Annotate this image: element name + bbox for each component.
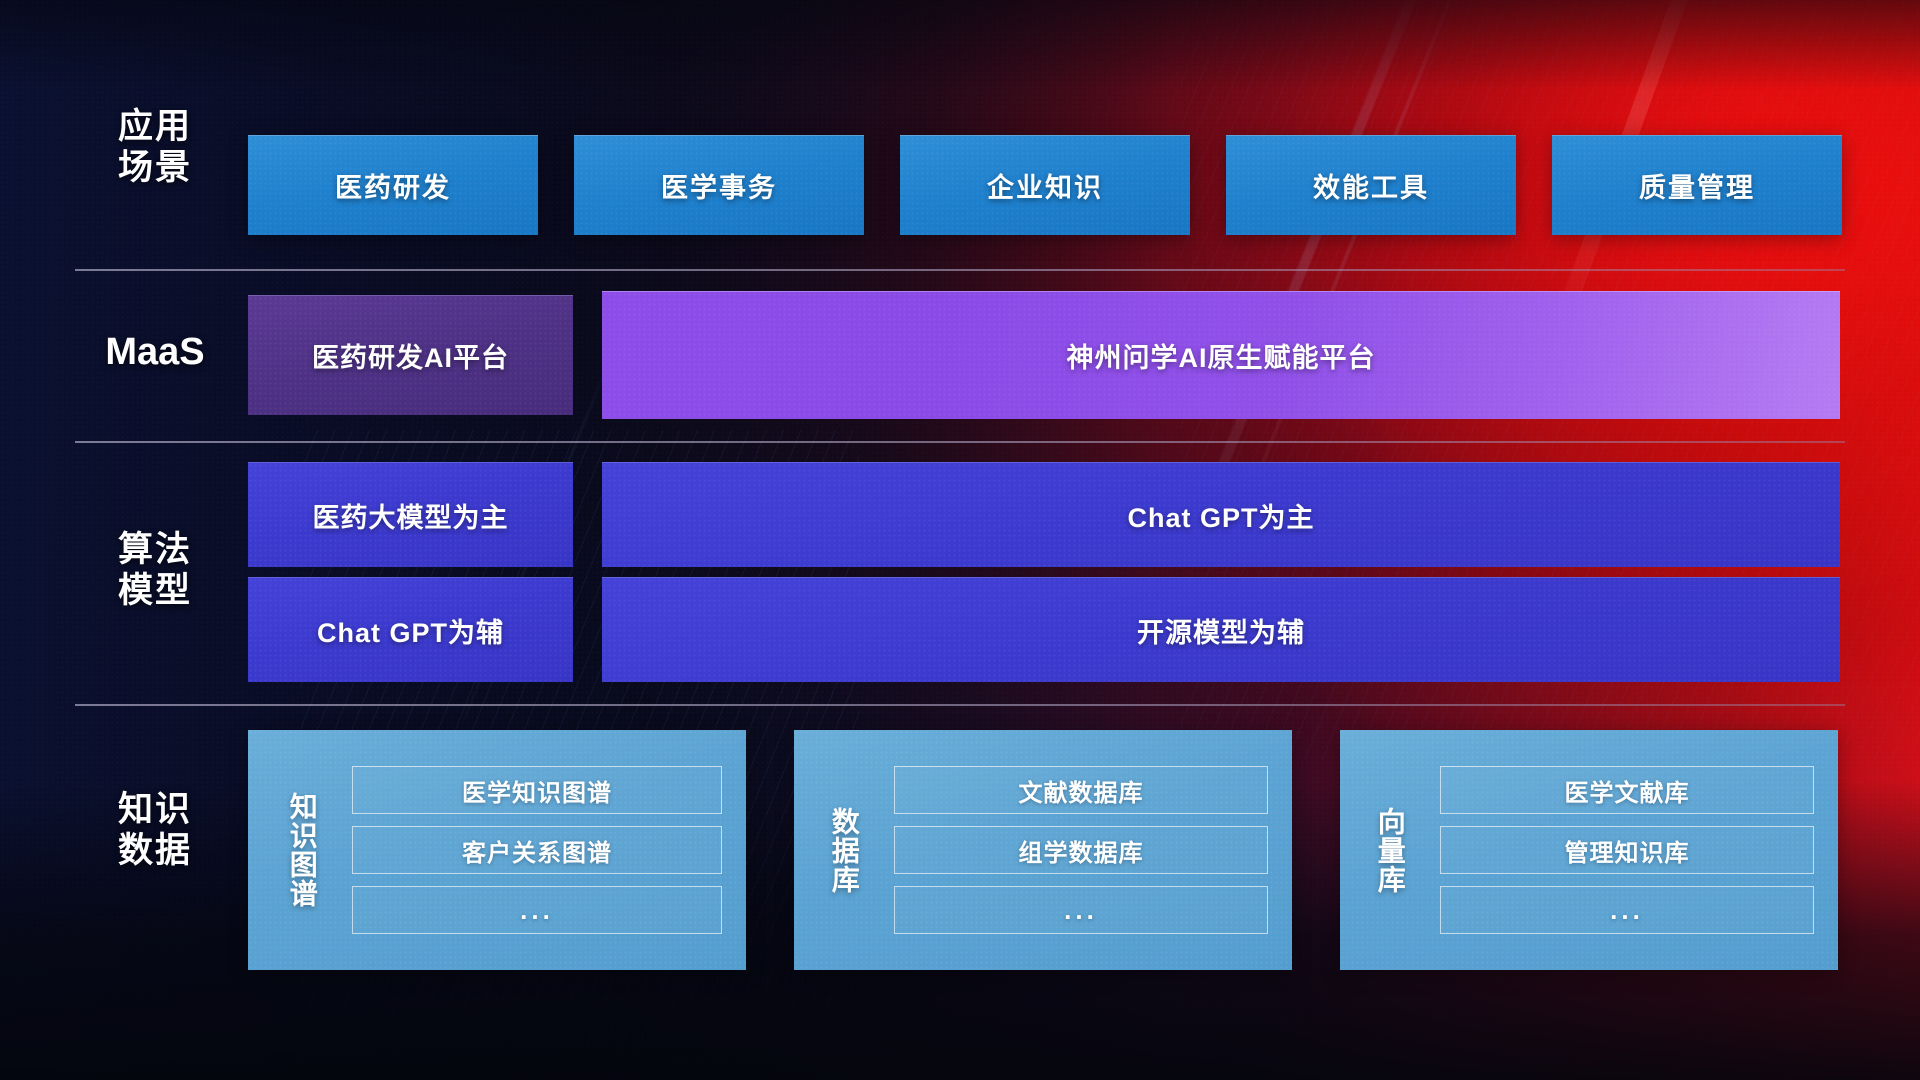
- app-box-label: 医学事务: [661, 166, 777, 205]
- knowledge-item-more[interactable]: ...: [352, 886, 722, 934]
- knowledge-group-title: 知识图谱: [266, 730, 338, 970]
- algo-box-label: Chat GPT为辅: [317, 611, 504, 650]
- row-label-line-1: 算法: [75, 530, 235, 571]
- knowledge-item-customer-relation-graph[interactable]: 客户关系图谱: [352, 826, 722, 874]
- algo-box-label: 开源模型为辅: [1137, 611, 1305, 650]
- knowledge-item-more[interactable]: ...: [1440, 886, 1814, 934]
- row-label-line-2: 场景: [75, 148, 235, 189]
- algo-box-chatgpt-secondary[interactable]: Chat GPT为辅: [248, 577, 573, 682]
- app-box-efficiency-tools[interactable]: 效能工具: [1226, 135, 1516, 235]
- row-label-line-1: 知识: [75, 790, 235, 831]
- knowledge-item-omics-database[interactable]: 组学数据库: [894, 826, 1268, 874]
- maas-box-drug-rnd-ai-platform[interactable]: 医药研发AI平台: [248, 295, 573, 415]
- app-box-enterprise-knowledge[interactable]: 企业知识: [900, 135, 1190, 235]
- knowledge-group-item-list: 文献数据库 组学数据库 ...: [880, 730, 1292, 970]
- row-label-line-2: 数据: [75, 831, 235, 872]
- row-label-knowledge-data: 知识 数据: [75, 790, 235, 871]
- knowledge-item-medical-knowledge-graph[interactable]: 医学知识图谱: [352, 766, 722, 814]
- knowledge-group-database[interactable]: 数据库 文献数据库 组学数据库 ...: [794, 730, 1292, 970]
- maas-box-label: 神州问学AI原生赋能平台: [1067, 336, 1376, 375]
- knowledge-item-medical-literature-library[interactable]: 医学文献库: [1440, 766, 1814, 814]
- knowledge-group-item-list: 医学文献库 管理知识库 ...: [1426, 730, 1838, 970]
- app-box-label: 企业知识: [987, 166, 1103, 205]
- algo-box-label: Chat GPT为主: [1127, 496, 1314, 535]
- row-label-maas: MaaS: [75, 330, 235, 374]
- row-label-algorithm-model: 算法 模型: [75, 530, 235, 611]
- knowledge-group-title: 数据库: [808, 730, 880, 970]
- row-divider-1: [75, 269, 1845, 271]
- knowledge-group-vector-database[interactable]: 向量库 医学文献库 管理知识库 ...: [1340, 730, 1838, 970]
- algo-box-drug-large-model-primary[interactable]: 医药大模型为主: [248, 462, 573, 567]
- row-label-line-1: 应用: [75, 107, 235, 148]
- app-box-drug-rnd[interactable]: 医药研发: [248, 135, 538, 235]
- knowledge-group-title: 向量库: [1354, 730, 1426, 970]
- app-box-label: 效能工具: [1313, 166, 1429, 205]
- algo-box-chatgpt-primary[interactable]: Chat GPT为主: [602, 462, 1840, 567]
- knowledge-group-knowledge-graph[interactable]: 知识图谱 医学知识图谱 客户关系图谱 ...: [248, 730, 746, 970]
- row-label-line-2: 模型: [75, 571, 235, 612]
- app-box-label: 质量管理: [1639, 166, 1755, 205]
- app-box-medical-affairs[interactable]: 医学事务: [574, 135, 864, 235]
- architecture-diagram: 应用 场景 医药研发 医学事务 企业知识 效能工具 质量管理 MaaS 医药研发…: [0, 0, 1920, 1080]
- knowledge-item-management-knowledge-base[interactable]: 管理知识库: [1440, 826, 1814, 874]
- row-label-application-scenario: 应用 场景: [75, 107, 235, 188]
- row-divider-3: [75, 704, 1845, 706]
- algo-box-label: 医药大模型为主: [313, 496, 509, 535]
- maas-box-label: 医药研发AI平台: [312, 336, 509, 375]
- row-divider-2: [75, 441, 1845, 443]
- algo-box-opensource-model-secondary[interactable]: 开源模型为辅: [602, 577, 1840, 682]
- knowledge-item-literature-database[interactable]: 文献数据库: [894, 766, 1268, 814]
- app-box-quality-management[interactable]: 质量管理: [1552, 135, 1842, 235]
- app-box-label: 医药研发: [335, 166, 451, 205]
- knowledge-group-item-list: 医学知识图谱 客户关系图谱 ...: [338, 730, 746, 970]
- maas-box-shenzhou-wenxue-platform[interactable]: 神州问学AI原生赋能平台: [602, 291, 1840, 419]
- knowledge-item-more[interactable]: ...: [894, 886, 1268, 934]
